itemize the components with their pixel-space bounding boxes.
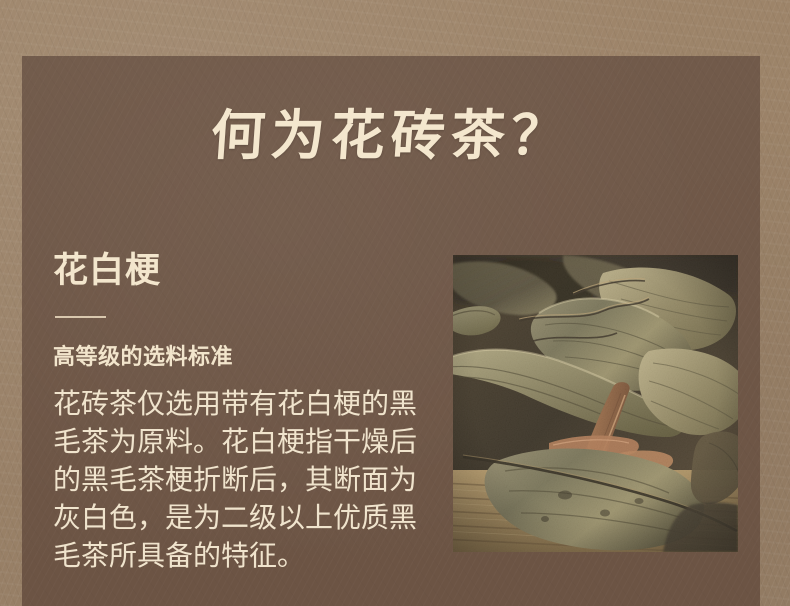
page-title: 何为花砖茶？ bbox=[20, 104, 762, 166]
text-column: 花白梗 高等级的选料标准 花砖茶仅选用带有花白梗的黑毛茶为原料。花白梗指干燥后的… bbox=[53, 250, 438, 575]
tea-leaf-photo bbox=[453, 255, 738, 552]
tea-leaf-photo-graphic bbox=[453, 255, 738, 552]
section-subheading: 高等级的选料标准 bbox=[53, 342, 438, 372]
section-heading: 花白梗 bbox=[53, 250, 438, 292]
heading-divider bbox=[55, 316, 106, 318]
page-background: 何为花砖茶？ 花白梗 高等级的选料标准 花砖茶仅选用带有花白梗的黑毛茶为原料。花… bbox=[0, 0, 790, 606]
section-body-text: 花砖茶仅选用带有花白梗的黑毛茶为原料。花白梗指干燥后的黑毛茶梗折断后，其断面为灰… bbox=[53, 385, 431, 575]
content-panel: 何为花砖茶？ 花白梗 高等级的选料标准 花砖茶仅选用带有花白梗的黑毛茶为原料。花… bbox=[22, 56, 760, 606]
